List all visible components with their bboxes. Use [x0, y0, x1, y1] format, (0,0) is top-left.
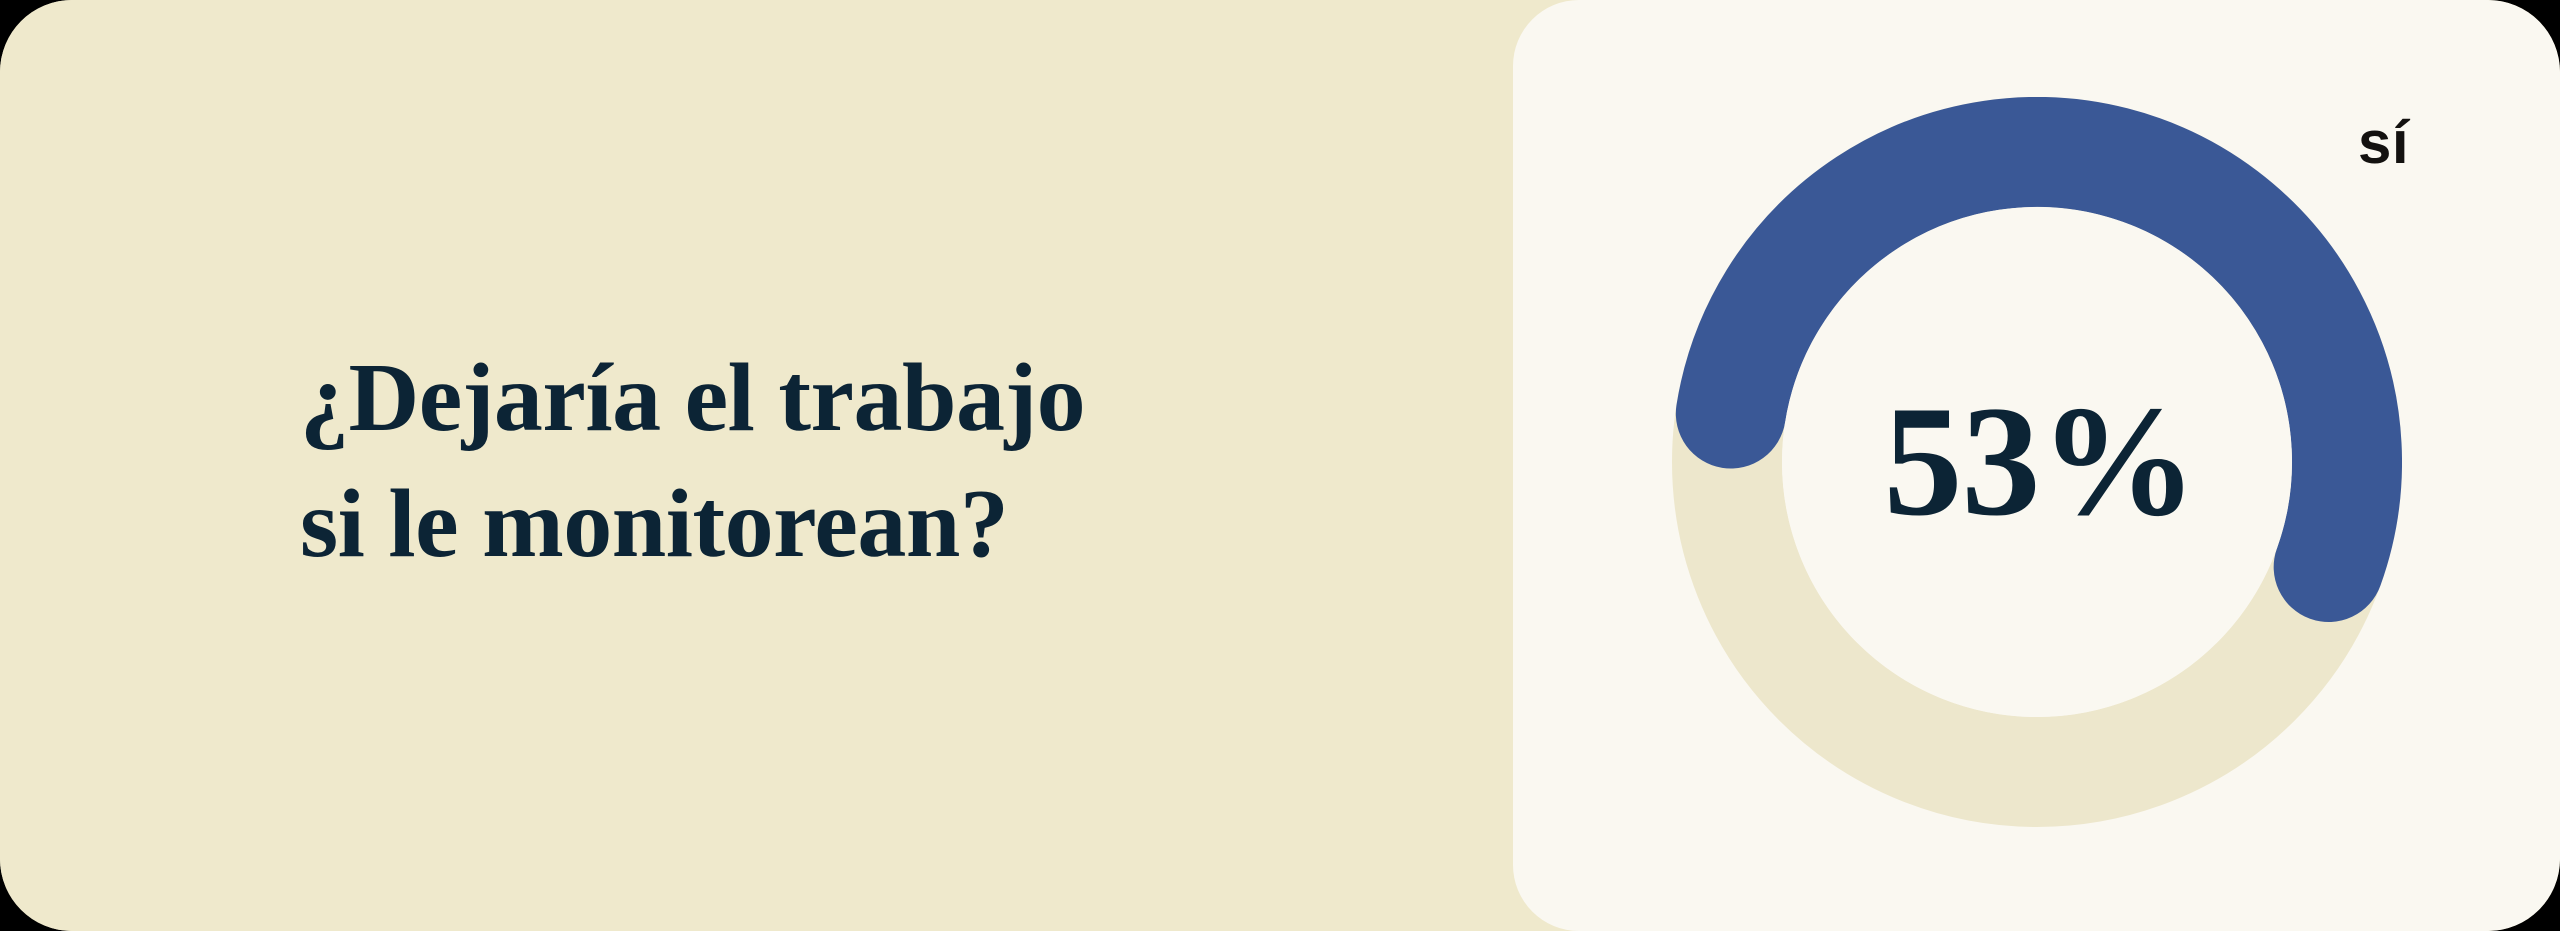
question-panel: ¿Dejaría el trabajo si le monitorean? — [0, 0, 1540, 931]
donut-hole — [1782, 207, 2292, 717]
page-title: ¿Dejaría el trabajo si le monitorean? — [0, 336, 1085, 587]
stat-card: ¿Dejaría el trabajo si le monitorean? 53… — [0, 0, 2560, 931]
series-label-si: sí — [2358, 113, 2409, 173]
donut-chart — [1672, 97, 2402, 827]
